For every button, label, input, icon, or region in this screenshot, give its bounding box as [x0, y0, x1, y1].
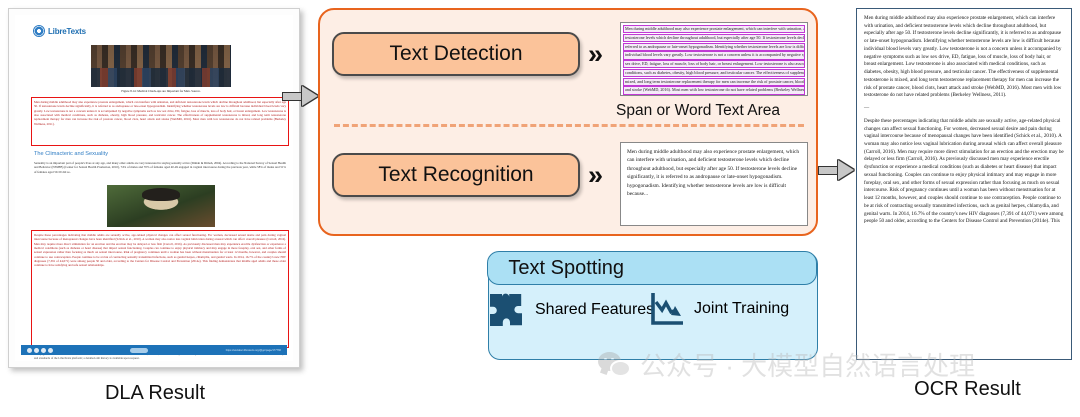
declining-chart-icon	[648, 290, 686, 328]
detected-line: Men during middle adulthood may also exp…	[623, 25, 805, 33]
settings-icon[interactable]	[48, 348, 53, 353]
text-spotting-header: Text Spotting	[487, 251, 817, 285]
detection-output-preview: Men during middle adulthood may also exp…	[620, 22, 808, 96]
two-stage-pipeline-panel: Text Detection » Men during middle adult…	[318, 8, 818, 236]
chevron-right-detection-icon: »	[588, 41, 603, 68]
caption-ocr-result: OCR Result	[880, 378, 1055, 401]
figure-photo-older-man	[107, 185, 215, 227]
libretexts-logo: LibreTexts	[33, 25, 86, 37]
dla-region-box-2	[31, 230, 289, 348]
minus-icon[interactable]	[27, 348, 32, 353]
ocr-paragraph: Despite these percentages indicating tha…	[864, 118, 1064, 226]
ocr-paragraph: Men during middle adulthood may also exp…	[864, 15, 1064, 100]
text-spotting-title: Text Spotting	[508, 257, 624, 280]
detection-output-label: Span or Word Text Area	[588, 102, 808, 120]
chevron-right-recognition-icon: »	[588, 162, 603, 189]
detected-line: testosterone levels which decline throug…	[623, 34, 805, 42]
detected-line: individual blood levels vary greatly. Lo…	[623, 51, 805, 59]
detected-line: conditions, such as diabetes, obesity, h…	[623, 69, 805, 77]
arrow-shaft	[818, 166, 840, 175]
joint-training-item: Joint Training	[648, 290, 789, 328]
document-page: LibreTexts Figure 8.14: Medical Check-up…	[15, 15, 293, 361]
pipeline-stage-divider	[334, 124, 804, 127]
toolbar-icon-group[interactable]	[27, 348, 53, 353]
figure-caption: Figure 8.14: Medical Check-ups are Impor…	[91, 89, 231, 93]
figure-photo-men-group	[91, 45, 231, 87]
text-detection-label: Text Detection	[389, 42, 522, 66]
puzzle-piece-icon	[486, 290, 526, 330]
detected-line: and stroke (WebMD, 2016). Most men with …	[623, 86, 805, 94]
page-url: https://socialsci.libretexts.org/@go/pag…	[226, 349, 281, 352]
text-spotting-content-row: Shared Features Joint Training	[488, 290, 824, 356]
dla-result-document: LibreTexts Figure 8.14: Medical Check-up…	[8, 8, 300, 368]
recognition-output-preview: Men during middle adulthood may also exp…	[620, 142, 808, 226]
document-viewer-toolbar[interactable]: https://socialsci.libretexts.org/@go/pag…	[21, 345, 287, 355]
text-recognition-label: Text Recognition	[378, 163, 533, 187]
caption-dla-result: DLA Result	[60, 382, 250, 405]
dla-region-box-1	[31, 97, 289, 146]
arrow-head	[302, 86, 318, 106]
paragraph-2: Sexuality is an important part of people…	[34, 161, 286, 174]
detected-line: referred to as andropause or late-onset …	[623, 43, 805, 51]
share-icon[interactable]	[41, 348, 46, 353]
info-icon[interactable]	[34, 348, 39, 353]
detected-line: sex drive, ED, fatigue, loss of muscle, …	[623, 60, 805, 68]
ocr-paragraph-separator: —	[864, 105, 1064, 113]
stage-text-detection[interactable]: Text Detection	[332, 32, 580, 76]
arrow-doc-to-pipeline	[282, 86, 318, 106]
arrow-pipeline-to-ocr	[818, 160, 854, 180]
page-indicator	[130, 348, 148, 353]
arrow-shaft	[282, 92, 304, 101]
libretexts-logo-text: LibreTexts	[48, 27, 86, 36]
figure-canvas: LibreTexts Figure 8.14: Medical Check-up…	[0, 0, 1080, 417]
shared-features-item: Shared Features	[486, 290, 654, 330]
wechat-bubble-small	[610, 360, 631, 377]
joint-training-label: Joint Training	[694, 300, 789, 318]
arrow-head	[838, 160, 854, 180]
shared-features-label: Shared Features	[535, 301, 654, 319]
section-heading: The Climacteric and Sexuality	[34, 151, 108, 157]
stage-text-recognition[interactable]: Text Recognition	[332, 153, 580, 197]
libretexts-ring-icon	[33, 25, 45, 37]
recognized-text: Men during middle adulthood may also exp…	[627, 148, 801, 198]
ocr-result-document: Men during middle adulthood may also exp…	[856, 8, 1072, 360]
detected-line: mixed, and long term testosterone replac…	[623, 78, 805, 86]
